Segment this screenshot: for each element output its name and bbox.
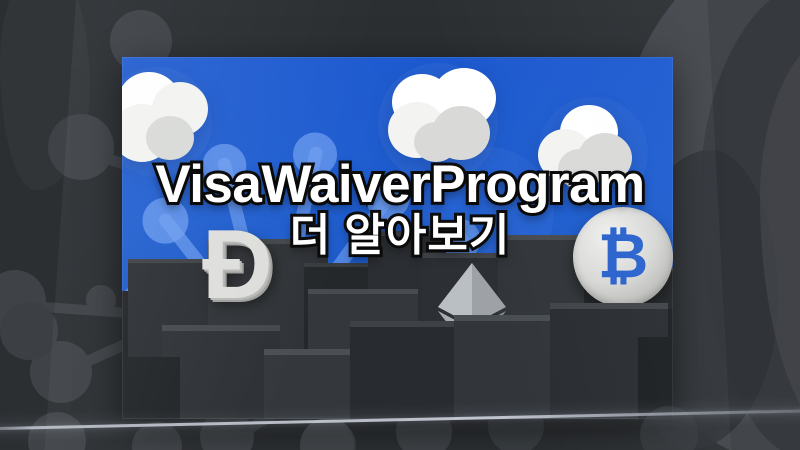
crypto-illustration-panel: Ð ₿ [122,57,673,419]
network-node-icon [48,114,114,180]
network-node-icon [86,285,116,315]
dogecoin-icon: Ð [202,215,273,313]
cloud-icon [538,105,642,197]
bitcoin-icon: ₿ [573,207,673,307]
cloud-icon [122,72,222,172]
thumbnail-canvas: Ð ₿ VisaWaiverProgram [0,0,800,450]
cloud-icon [388,68,508,172]
bitcoin-glyph: ₿ [598,226,649,288]
network-node-icon [0,302,58,360]
